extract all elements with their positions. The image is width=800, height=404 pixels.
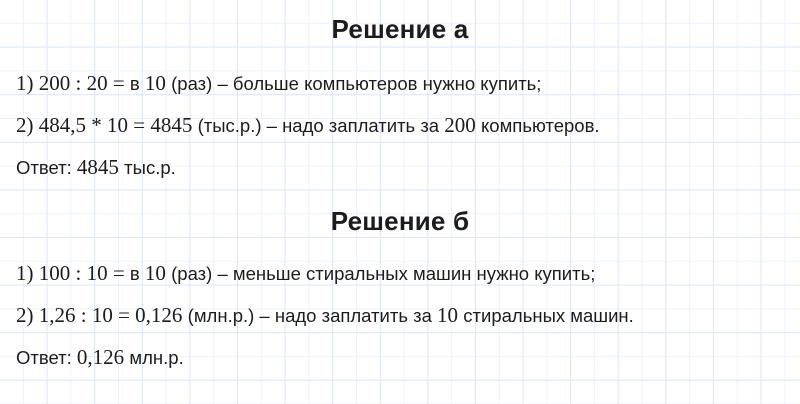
text-run: Ответ: [16,347,77,368]
text-run: Ответ: [16,157,77,178]
numeric-run: 10 [145,261,171,285]
solution-b-step-2: 2) 1,26 : 10 = 0,126 (млн.р.) – надо зап… [0,304,800,327]
solution-b-answer: Ответ: 0,126 млн.р. [0,346,800,369]
text-run: в [130,263,145,284]
numeric-run: 10 [437,303,463,327]
text-run: тыс.р. [124,157,176,178]
numeric-run: 1) 100 : 10 = [16,261,130,285]
numeric-run: 10 [145,71,171,95]
solution-a-step-2: 2) 484,5 * 10 = 4845 (тыс.р.) – надо зап… [0,114,800,137]
numeric-run: 2) 1,26 : 10 = 0,126 [16,303,188,327]
text-run: компьютеров. [481,115,600,136]
numeric-run: 0,126 [77,345,130,369]
text-run: (млн.р.) – надо заплатить за [188,305,437,326]
numeric-run: 2) 484,5 * 10 = 4845 [16,113,198,137]
text-run: млн.р. [129,347,183,368]
solution-a-answer: Ответ: 4845 тыс.р. [0,156,800,179]
text-run: стиральных машин. [463,305,634,326]
worksheet-page: Решение а 1) 200 : 20 = в 10 (раз) – бол… [0,0,800,404]
numeric-run: 1) 200 : 20 = [16,71,130,95]
text-run: в [130,73,145,94]
numeric-run: 200 [444,113,481,137]
solution-a-step-1: 1) 200 : 20 = в 10 (раз) – больше компью… [0,72,800,95]
text-run: (раз) – больше компьютеров нужно купить; [171,73,541,94]
text-run: (тыс.р.) – надо заплатить за [198,115,445,136]
heading-solution-b: Решение б [0,206,800,236]
numeric-run: 4845 [77,155,124,179]
heading-solution-a: Решение а [0,14,800,44]
text-run: (раз) – меньше стиральных машин нужно ку… [171,263,595,284]
solution-b-step-1: 1) 100 : 10 = в 10 (раз) – меньше стирал… [0,262,800,285]
